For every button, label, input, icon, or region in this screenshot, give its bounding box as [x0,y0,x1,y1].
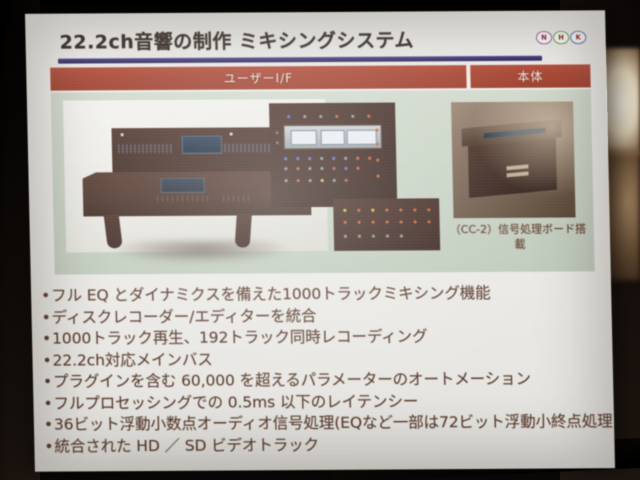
unit-caption-line-1: （CC-2）信号処理ボード搭 [450,221,590,237]
surface-led [343,209,346,212]
surface-led [332,157,335,160]
surface-led [414,220,417,223]
surface-led [386,235,389,238]
bullet-text: フルプロセッシングでの 0.5ms 以下のレイテンシー [53,392,418,412]
surface-led [351,115,354,118]
control-surface-upper [269,103,397,208]
display-window [347,130,377,145]
projection-screen: 22.2ch音響の制作 ミキシングシステム N H K ユーザーI/F 本体 [25,10,615,471]
surface-led [321,179,324,182]
surface-led [399,209,402,212]
bullet-item: •プラグインを含む 60,000 を超えるパラメーターのオートメーション [43,368,615,393]
section-bar-main-unit: 本体 [470,64,591,88]
console-fader-bank [223,195,249,201]
surface-led [400,234,403,237]
surface-led [287,115,290,118]
console-floor-shadow [112,239,293,264]
bullet-item: •統合された HD ／ SD ビデオトラック [44,433,615,458]
bullet-text: プラグインを含む 60,000 を超えるパラメーターのオートメーション [53,370,531,391]
bullet-text: フル EQ とダイナミクスを備えた1000トラックミキシング機能 [51,284,491,305]
surface-led [320,167,323,170]
surface-led [284,167,287,170]
surface-led [332,167,335,170]
surface-led [357,209,360,212]
bullet-marker: • [41,287,50,305]
surface-led [344,221,347,224]
surface-led [367,115,370,118]
surface-led [386,221,389,224]
surface-led [372,235,375,238]
control-surface-lower [333,198,440,251]
surface-led [344,157,347,160]
surface-led [333,179,336,182]
control-surface-figure [269,102,440,251]
surface-led [344,167,347,170]
bullet-text: 1000トラック再生、192トラック同時レコーディング [52,327,428,347]
surface-led [297,179,300,182]
surface-led [413,208,416,211]
bullet-text: 統合された HD ／ SD ビデオトラック [54,435,319,455]
surface-led [377,175,380,178]
surface-led [368,157,371,160]
surface-led [296,167,299,170]
surface-led [356,167,359,170]
surface-led [376,129,379,132]
surface-led [320,157,323,160]
unit-photo-highlight [451,101,576,218]
surface-led [376,159,379,162]
control-surface-display [283,125,382,150]
surface-led [276,131,279,134]
feature-bullet-list: •フル EQ とダイナミクスを備えた1000トラックミキシング機能 •ディスクレ… [41,282,615,458]
bullet-marker: • [43,373,52,391]
surface-led [319,115,322,118]
unit-caption-line-2: 載 [450,236,590,252]
projection-scene: 22.2ch音響の制作 ミキシングシステム N H K ユーザーI/F 本体 [0,0,640,480]
bullet-text: 22.2ch対応メインバス [52,350,212,369]
surface-led [335,115,338,118]
surface-led [385,209,388,212]
surface-led [345,179,348,182]
console-touch-display [161,178,205,193]
presentation-slide: 22.2ch音響の制作 ミキシングシステム N H K ユーザーI/F 本体 [25,10,615,471]
surface-led [371,209,374,212]
bullet-text: 36ビット浮動小数点オーディオ信号処理(EQなど一部は72ビット浮動小終点処理) [54,412,615,433]
bullet-marker: • [44,437,53,455]
surface-led [376,143,379,146]
surface-led [372,221,375,224]
nhk-logo-letter-h: H [553,31,569,44]
surface-led [428,220,431,223]
slide-title: 22.2ch音響の制作 ミキシングシステム [59,25,414,54]
console-indicator-led [230,133,233,136]
bullet-marker: • [42,351,51,369]
nhk-logo-letter-k: K [570,31,586,44]
bullet-marker: • [42,330,51,348]
console-fader-bank [157,196,211,202]
console-backrail [111,127,280,174]
section-bar-row: ユーザーI/F 本体 [50,64,591,90]
surface-led [400,220,403,223]
bullet-marker: • [44,416,53,434]
console-meter-left [118,144,174,153]
section-bar-user-interface: ユーザーI/F [50,65,467,91]
surface-led [276,141,279,144]
figure-content-area: （CC-2）信号処理ボード搭 載 [51,89,595,274]
surface-led [358,235,361,238]
bullet-text: ディスクレコーダー/エディターを統合 [51,307,316,327]
bullet-marker: • [43,394,52,412]
surface-led [344,235,347,238]
console-meter-right [224,143,274,152]
surface-led [284,157,287,160]
display-window [321,130,345,145]
display-window [291,130,317,145]
surface-led [303,115,306,118]
nhk-logo-letter-n: N [536,31,552,44]
surface-led [308,157,311,160]
console-indicator-led [121,133,124,136]
slide-header: 22.2ch音響の制作 ミキシングシステム N H K [25,24,606,62]
surface-led [285,179,288,182]
surface-led [309,179,312,182]
surface-led [296,157,299,160]
unit-photo-caption: （CC-2）信号処理ボード搭 載 [450,221,591,252]
surface-led [356,157,359,160]
surface-led [427,208,430,211]
surface-led [358,221,361,224]
signal-processing-unit-photo [451,101,576,218]
nhk-logo: N H K [536,31,587,45]
bullet-item: •36ビット浮動小数点オーディオ信号処理(EQなど一部は72ビット浮動小終点処理… [44,411,615,436]
title-underline-bar [58,56,542,64]
console-center-screen [182,136,222,154]
bullet-marker: • [41,308,50,326]
surface-led [308,167,311,170]
